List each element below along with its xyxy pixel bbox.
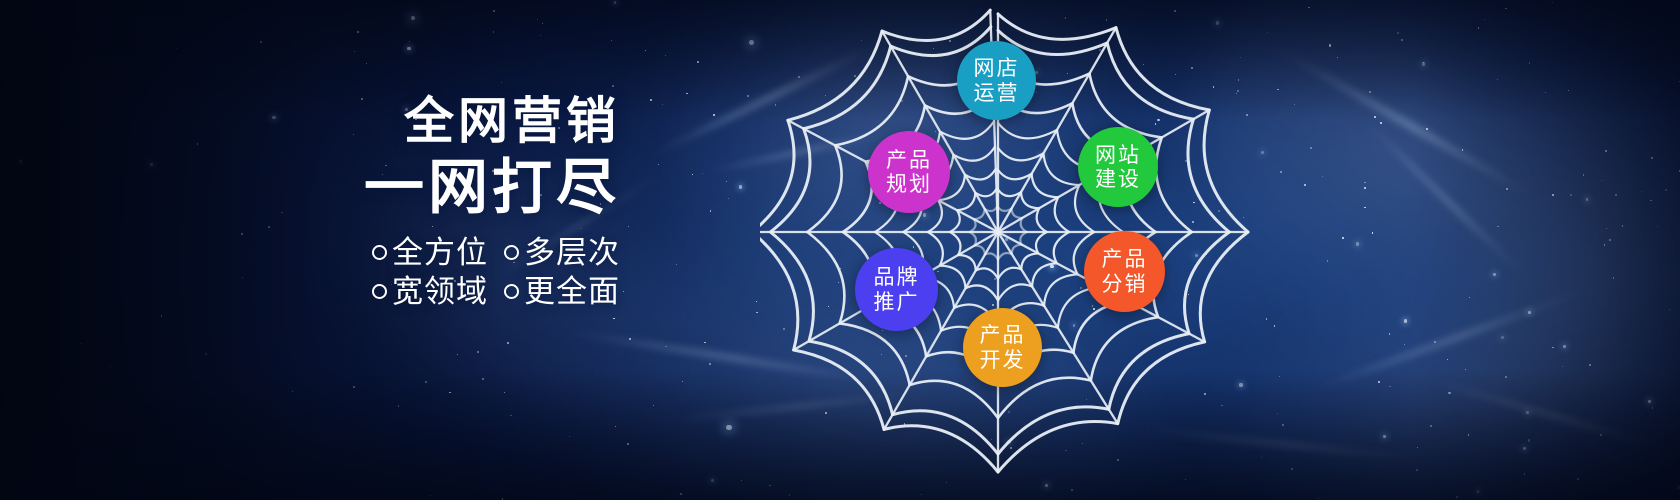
web-ring-segment [910, 381, 998, 418]
web-ring-segment [1020, 232, 1026, 245]
headline-line-2: 一网打尽 [0, 158, 620, 218]
web-ring-segment [998, 422, 1118, 472]
web-ring-segment [957, 193, 975, 210]
subtitle-item-3: 宽领域 [392, 274, 488, 310]
web-ring-segment [998, 14, 1116, 39]
web-ring-segment [970, 232, 976, 246]
web-ring-segment [998, 189, 1021, 196]
node-label-line-1: 产品 [980, 323, 1026, 347]
web-node-product-planning[interactable]: 产品规划 [868, 131, 950, 213]
web-ring-segment [809, 341, 893, 414]
web-ring-segment [940, 121, 994, 139]
web-node-website-construction[interactable]: 网站建设 [1078, 127, 1158, 207]
web-ring-segment [998, 253, 1012, 260]
web-ring-segment [1200, 232, 1248, 342]
web-ring-segment [1036, 232, 1047, 253]
web-ring-segment [1107, 43, 1193, 119]
bullet-circle-icon [504, 284, 519, 299]
web-ring-segment [1118, 342, 1205, 424]
headline-block: 全网营销 一网打尽 全方位多层次 宽领域更全面 [0, 96, 646, 312]
headline-line-1: 全网营销 [0, 96, 620, 146]
web-ring-segment [998, 148, 1043, 160]
node-label-line-2: 规划 [886, 172, 932, 196]
node-label-line-2: 推广 [874, 290, 920, 314]
node-label-line-2: 开发 [980, 348, 1026, 372]
web-ring-segment [998, 268, 1021, 279]
web-ring-segment [950, 210, 960, 232]
web-ring-segment [966, 285, 998, 300]
node-label-line-1: 网店 [974, 56, 1020, 80]
web-ring-segment [965, 169, 996, 180]
web-ring-segment [794, 350, 884, 429]
web-ring-segment [1037, 208, 1047, 232]
web-ring-segment [1021, 253, 1038, 269]
web-ring-segment [976, 268, 998, 278]
web-node-online-store-operations[interactable]: 网店运营 [957, 41, 1036, 120]
web-ring-segment [788, 31, 882, 120]
web-ring-segment [985, 253, 998, 259]
marketing-banner: 全网营销 一网打尽 全方位多层次 宽领域更全面 网店运营产品规划网站建设产品分销… [0, 0, 1680, 500]
subtitle-line-1: 全方位多层次 [0, 234, 620, 273]
web-ring-segment [882, 10, 990, 40]
subtitle-item-2: 多层次 [524, 235, 620, 271]
web-ring-segment [1055, 197, 1070, 232]
web-ring-segment [928, 232, 943, 266]
subtitle-item-4: 更全面 [524, 274, 620, 310]
web-ring-segment [1021, 218, 1027, 232]
bullet-circle-icon [372, 284, 387, 299]
web-ring-segment [1044, 274, 1077, 306]
web-ring-segment [1012, 245, 1022, 254]
node-label-line-1: 品牌 [874, 265, 920, 289]
web-ring-segment [998, 170, 1032, 179]
web-ring-segment [1043, 153, 1079, 185]
web-ring-segment [804, 46, 891, 128]
web-ring-segment [974, 209, 985, 219]
web-ring-segment [985, 206, 997, 211]
web-ring-segment [998, 207, 1012, 211]
subtitle-line-2: 宽领域更全面 [0, 273, 620, 312]
node-label-line-2: 建设 [1095, 167, 1141, 191]
web-ring-segment [998, 284, 1032, 300]
web-ring-segment [953, 147, 995, 161]
web-ring-segment [975, 246, 985, 255]
web-ring-segment [970, 219, 976, 232]
web-ring-segment [884, 426, 998, 472]
web-ring-segment [975, 189, 996, 197]
web-ring-segment [1054, 232, 1070, 263]
node-label-line-2: 分销 [1102, 272, 1148, 296]
node-label-line-2: 运营 [974, 81, 1020, 105]
bullet-circle-icon [504, 245, 519, 260]
web-ring-segment [1156, 137, 1192, 232]
subtitle-item-1: 全方位 [392, 235, 488, 271]
subtitle-block: 全方位多层次 宽领域更全面 [0, 234, 620, 312]
web-node-brand-promotion[interactable]: 品牌推广 [855, 248, 938, 331]
node-label-line-1: 产品 [886, 148, 932, 172]
web-ring-segment [807, 145, 841, 232]
bullet-circle-icon [372, 245, 387, 260]
web-node-product-development[interactable]: 产品开发 [963, 308, 1042, 387]
web-node-product-distribution[interactable]: 产品分销 [1084, 231, 1165, 312]
node-label-line-1: 网站 [1095, 143, 1141, 167]
spider-web-diagram: 网店运营产品规划网站建设产品分销品牌推广产品开发 [760, 0, 1260, 500]
web-ring-segment [950, 232, 960, 255]
web-ring-segment [1109, 334, 1189, 410]
node-label-line-1: 产品 [1102, 247, 1148, 271]
web-ring-segment [760, 232, 798, 350]
web-ring-segment [1021, 192, 1039, 208]
web-ring-segment [1116, 28, 1209, 110]
web-ring-segment [998, 123, 1057, 138]
web-ring-segment [958, 255, 976, 270]
web-ring-segment [1012, 209, 1023, 218]
